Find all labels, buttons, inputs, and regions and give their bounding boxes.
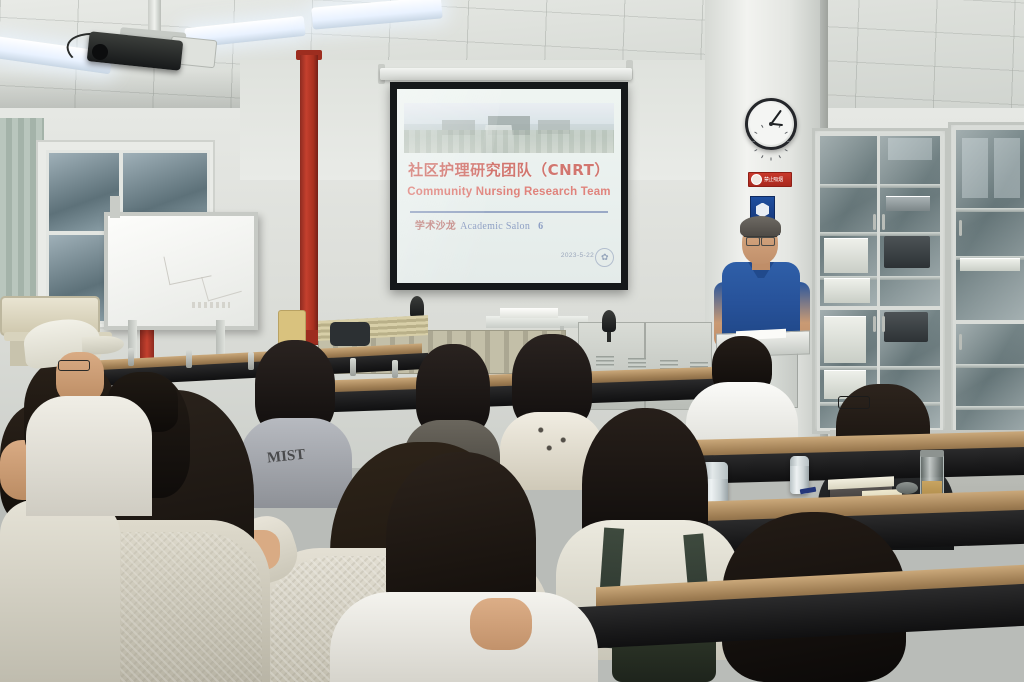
no-smoking-sign: 禁止吸烟 (748, 172, 792, 187)
classroom-scene: 社区护理研究团队（CNRT） Community Nursing Researc… (0, 0, 1024, 682)
presentation-slide: 社区护理研究团队（CNRT） Community Nursing Researc… (397, 89, 621, 283)
clock-center-pin (769, 122, 773, 126)
hoodie-print: MIST (266, 446, 318, 487)
cabinet-vent (628, 358, 646, 370)
student-torso (26, 396, 152, 516)
student-glasses-icon (838, 396, 870, 409)
projection-screen[interactable]: 社区护理研究团队（CNRT） Community Nursing Researc… (397, 89, 621, 283)
wall-clock (745, 98, 797, 150)
slide-logo-icon: ✿ (595, 248, 614, 267)
floral-print (524, 418, 580, 458)
clock-face (750, 103, 792, 145)
storage-cabinet[interactable] (948, 122, 1024, 450)
screen-glare (397, 89, 503, 283)
no-smoking-icon (751, 174, 762, 185)
slide-session-number: 6 (538, 221, 543, 232)
no-smoking-label: 禁止吸烟 (764, 176, 783, 183)
jar-lid (920, 450, 944, 457)
whiteboard-bracket (110, 196, 120, 218)
bench-rail (392, 360, 398, 378)
bench-rail (248, 352, 254, 370)
student-glasses-icon (58, 360, 90, 371)
whiteboard-marking (192, 302, 230, 308)
wall-speaker (602, 310, 616, 332)
red-support-column (300, 55, 318, 345)
bench-rail (186, 350, 192, 368)
front-table-papers (500, 308, 558, 318)
cabinet-door[interactable] (877, 133, 943, 309)
dark-bag (330, 322, 370, 346)
bench-rail (128, 348, 134, 366)
cabinet-door[interactable] (817, 133, 881, 309)
thermos-cap (790, 456, 809, 466)
presenter-glasses-icon (744, 236, 777, 244)
student-hand (470, 598, 532, 650)
small-cup[interactable] (896, 482, 918, 494)
student-torso (0, 500, 120, 682)
cabinet-vent (596, 356, 614, 368)
presenter-hair (740, 216, 781, 238)
screen-housing (380, 68, 632, 80)
cabinet-door[interactable] (953, 127, 1024, 323)
student-torso (330, 592, 598, 682)
slide-date: 2023-5-22 (561, 252, 594, 259)
whiteboard[interactable] (104, 212, 258, 330)
bench-rail (350, 358, 356, 376)
